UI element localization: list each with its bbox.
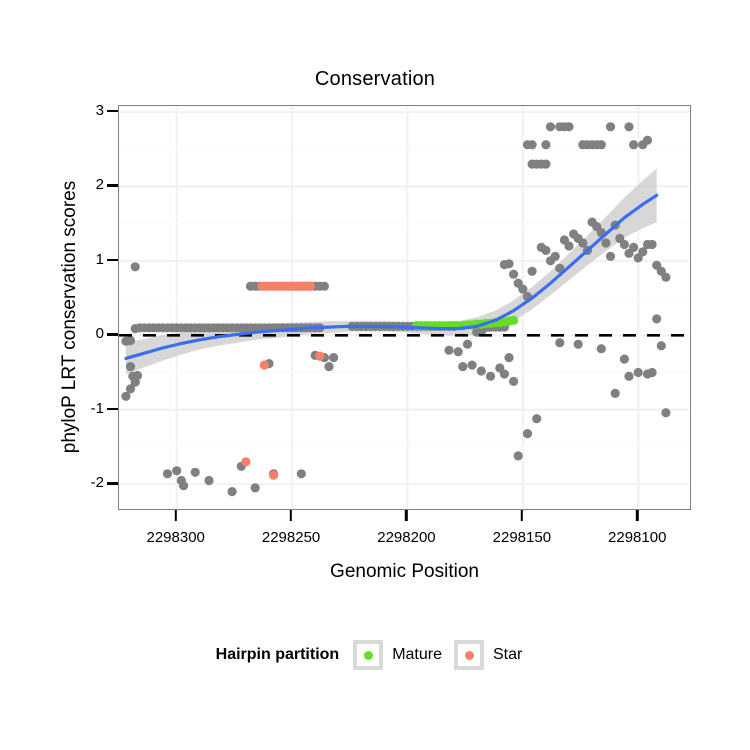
y-tick-mark	[107, 259, 118, 261]
data-point[interactable]	[260, 361, 269, 370]
data-point[interactable]	[661, 408, 670, 417]
data-point[interactable]	[652, 314, 661, 323]
data-point[interactable]	[269, 471, 278, 480]
data-point[interactable]	[601, 238, 610, 247]
legend-label: Mature	[392, 646, 442, 664]
data-point[interactable]	[643, 136, 652, 145]
data-point[interactable]	[504, 259, 513, 268]
data-point[interactable]	[126, 362, 135, 371]
data-point[interactable]	[606, 252, 615, 261]
data-point[interactable]	[541, 140, 550, 149]
x-tick-mark	[174, 510, 176, 521]
plot-area	[119, 106, 689, 508]
data-point[interactable]	[179, 481, 188, 490]
legend-entries: MatureStar	[353, 640, 534, 670]
data-point[interactable]	[463, 340, 472, 349]
data-point[interactable]	[532, 414, 541, 423]
x-tick-label: 2298150	[493, 529, 551, 546]
data-point[interactable]	[320, 282, 329, 291]
data-point[interactable]	[306, 282, 315, 291]
data-point[interactable]	[458, 362, 467, 371]
data-point[interactable]	[551, 252, 560, 261]
x-tick-label: 2298200	[377, 529, 435, 546]
data-point[interactable]	[574, 340, 583, 349]
x-tick-mark	[405, 510, 407, 521]
y-tick-label: 2	[68, 176, 104, 193]
data-point[interactable]	[228, 487, 237, 496]
data-point[interactable]	[597, 344, 606, 353]
data-point[interactable]	[315, 352, 324, 361]
data-point[interactable]	[251, 483, 260, 492]
x-tick-label: 2298250	[262, 529, 320, 546]
chart-root: Conservation phyloP LRT conservation sco…	[0, 0, 750, 750]
legend-dot-icon	[364, 651, 373, 660]
data-point[interactable]	[528, 267, 537, 276]
data-point[interactable]	[546, 122, 555, 131]
y-tick-mark	[107, 184, 118, 186]
data-point[interactable]	[509, 377, 518, 386]
data-point[interactable]	[444, 346, 453, 355]
data-point[interactable]	[191, 468, 200, 477]
y-axis-tick-labels: -2-10123	[64, 105, 104, 510]
data-point[interactable]	[121, 392, 130, 401]
data-point[interactable]	[131, 262, 140, 271]
data-point[interactable]	[126, 336, 135, 345]
data-point[interactable]	[204, 476, 213, 485]
data-point[interactable]	[468, 361, 477, 370]
data-point[interactable]	[504, 353, 513, 362]
data-point[interactable]	[620, 240, 629, 249]
data-point[interactable]	[509, 316, 518, 325]
y-tick-label: 3	[68, 102, 104, 119]
data-point[interactable]	[564, 122, 573, 131]
x-tick-label: 2298300	[146, 529, 204, 546]
data-point[interactable]	[620, 355, 629, 364]
data-point[interactable]	[528, 140, 537, 149]
data-point[interactable]	[163, 469, 172, 478]
y-tick-mark	[107, 110, 118, 112]
legend-key-box	[353, 640, 383, 670]
data-point[interactable]	[597, 140, 606, 149]
data-point[interactable]	[241, 457, 250, 466]
data-point[interactable]	[454, 347, 463, 356]
x-tick-mark	[290, 510, 292, 521]
data-point[interactable]	[629, 243, 638, 252]
legend-entry-star[interactable]: Star	[454, 640, 522, 670]
y-tick-mark	[107, 482, 118, 484]
data-point[interactable]	[329, 353, 338, 362]
x-tick-label: 2298100	[608, 529, 666, 546]
data-point[interactable]	[648, 368, 657, 377]
data-point[interactable]	[555, 338, 564, 347]
x-tick-mark	[521, 510, 523, 521]
data-point[interactable]	[657, 341, 666, 350]
chart-title: Conservation	[0, 68, 750, 91]
y-tick-label: -2	[68, 474, 104, 491]
y-tick-label: -1	[68, 400, 104, 417]
y-tick-label: 0	[68, 325, 104, 342]
data-point[interactable]	[324, 362, 333, 371]
y-tick-label: 1	[68, 251, 104, 268]
data-point[interactable]	[648, 240, 657, 249]
y-tick-mark	[107, 408, 118, 410]
data-point[interactable]	[514, 451, 523, 460]
data-point[interactable]	[172, 466, 181, 475]
data-point[interactable]	[629, 140, 638, 149]
plot-panel	[118, 105, 691, 510]
data-point[interactable]	[297, 469, 306, 478]
data-point[interactable]	[541, 160, 550, 169]
data-point[interactable]	[500, 369, 509, 378]
legend-key-box	[454, 640, 484, 670]
data-point[interactable]	[541, 246, 550, 255]
x-axis-title: Genomic Position	[118, 561, 691, 583]
y-tick-mark	[107, 333, 118, 335]
data-point[interactable]	[523, 429, 532, 438]
legend-title: Hairpin partition	[216, 646, 340, 664]
legend-dot-icon	[465, 651, 474, 660]
data-point[interactable]	[624, 122, 633, 131]
legend-entry-mature[interactable]: Mature	[353, 640, 442, 670]
data-point[interactable]	[509, 270, 518, 279]
data-point[interactable]	[624, 372, 633, 381]
data-point[interactable]	[564, 241, 573, 250]
data-point[interactable]	[477, 366, 486, 375]
data-point[interactable]	[486, 372, 495, 381]
data-point[interactable]	[634, 368, 643, 377]
series-other	[121, 122, 670, 496]
legend: Hairpin partition MatureStar	[0, 640, 750, 670]
data-point[interactable]	[606, 122, 615, 131]
data-point[interactable]	[611, 389, 620, 398]
data-point[interactable]	[661, 273, 670, 282]
series-star	[241, 282, 324, 480]
x-tick-mark	[636, 510, 638, 521]
legend-label: Star	[493, 646, 522, 664]
